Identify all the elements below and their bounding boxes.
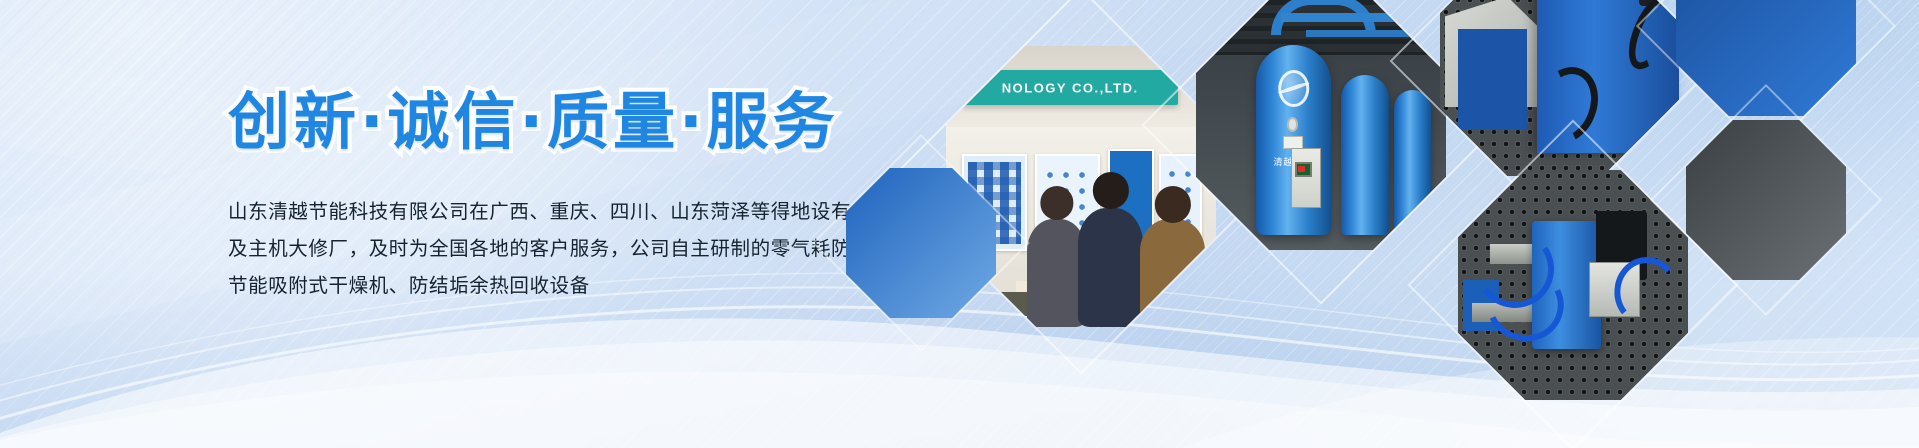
blue-bracket (1458, 29, 1527, 130)
pressure-vessel-main: 清越净化 (1256, 45, 1331, 235)
photo-collage: NOLOGY CO.,LTD. (880, 0, 1919, 448)
promo-banner: 创新·诚信·质量·服务 山东清越节能科技有限公司在广西、重庆、四川、山东菏泽等得… (0, 0, 1919, 448)
pressure-vessel-second (1341, 75, 1389, 235)
vessel-pipe-horizontal (1281, 13, 1441, 22)
page-title: 创新·诚信·质量·服务 (228, 86, 948, 157)
control-box-display (1295, 162, 1312, 177)
booth-visitor-3 (1140, 219, 1205, 327)
description-line-3: 节能吸附式干燥机、防结垢余热回收设备 (228, 267, 948, 304)
booth-banner: NOLOGY CO.,LTD. (962, 70, 1178, 105)
pressure-vessel-third (1394, 90, 1432, 235)
vessel-control-box (1291, 148, 1321, 209)
booth-banner-text: NOLOGY CO.,LTD. (962, 80, 1178, 95)
vessel-gauge (1287, 117, 1298, 132)
company-globe-logo (1278, 70, 1310, 108)
banner-copy: 创新·诚信·质量·服务 山东清越节能科技有限公司在广西、重庆、四川、山东菏泽等得… (228, 86, 948, 304)
booth-visitor-2 (1078, 208, 1143, 327)
